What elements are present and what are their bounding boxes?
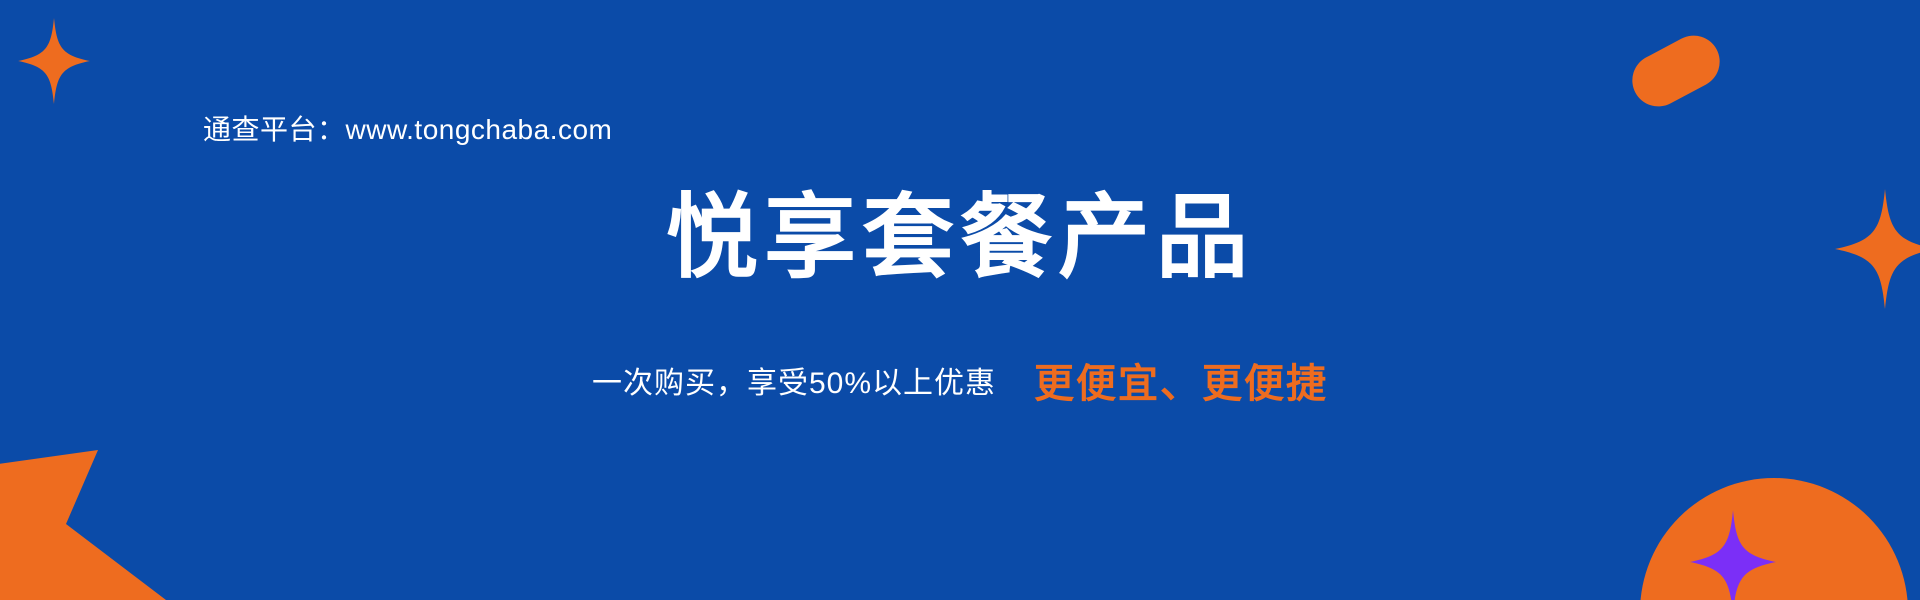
site-url[interactable]: www.tongchaba.com xyxy=(346,114,613,145)
banner-content: 通查平台：www.tongchaba.com 悦享套餐产品 一次购买，享受50%… xyxy=(0,0,1920,600)
site-line: 通查平台：www.tongchaba.com xyxy=(203,108,612,148)
headline: 悦享套餐产品 xyxy=(0,192,1920,284)
subtitle-highlight: 更便宜、更便捷 xyxy=(1034,362,1328,406)
subtitle-line: 一次购买，享受50%以上优惠更便宜、更便捷 xyxy=(0,364,1920,404)
site-label: 通查平台： xyxy=(203,114,346,145)
subtitle-primary: 一次购买，享受50%以上优惠 xyxy=(592,367,996,400)
promo-banner: 通查平台：www.tongchaba.com 悦享套餐产品 一次购买，享受50%… xyxy=(0,0,1920,600)
